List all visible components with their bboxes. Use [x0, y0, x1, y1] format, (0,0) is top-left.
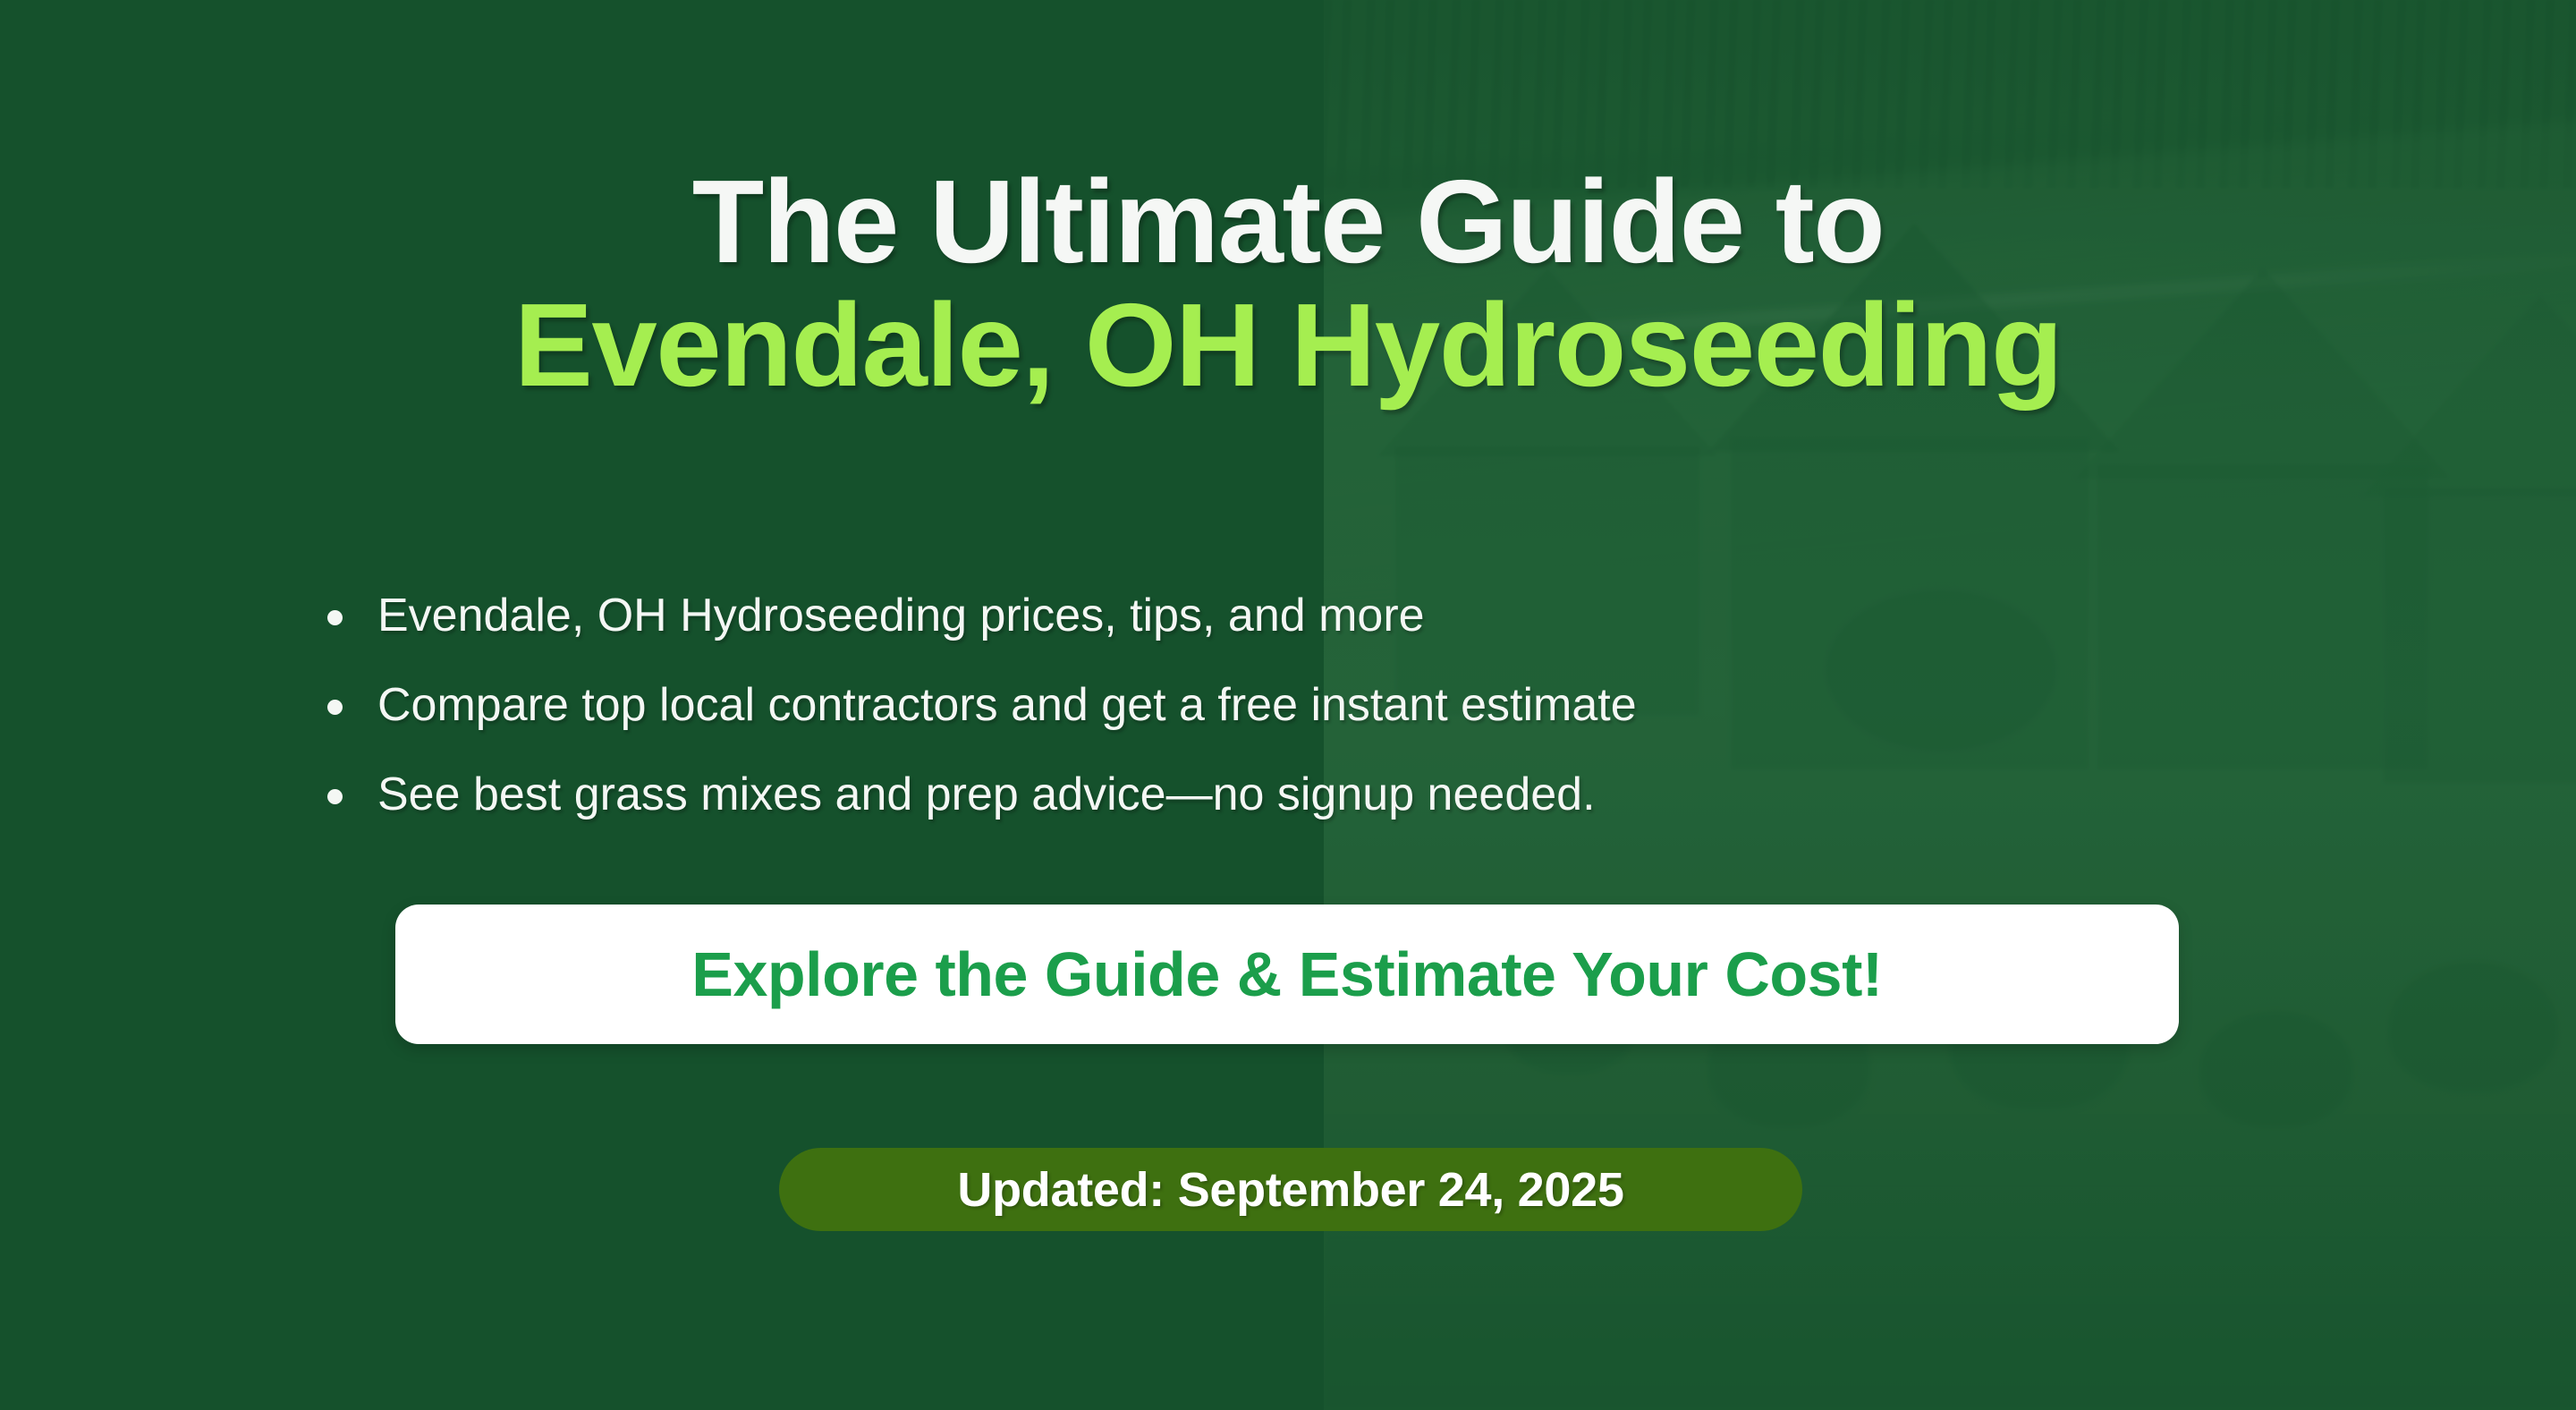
headline-line-2: Evendale, OH Hydroseeding: [0, 286, 2576, 404]
updated-date-badge: Updated: September 24, 2025: [779, 1148, 1802, 1231]
bullet-dot-icon: [327, 789, 343, 804]
list-item-label: See best grass mixes and prep advice—no …: [377, 769, 1596, 820]
bullet-dot-icon: [327, 700, 343, 715]
headline-line-1: The Ultimate Guide to: [0, 163, 2576, 281]
feature-bullet-list: Evendale, OH Hydroseeding prices, tips, …: [322, 590, 1637, 820]
list-item: Evendale, OH Hydroseeding prices, tips, …: [322, 590, 1637, 641]
hero-banner: The Ultimate Guide to Evendale, OH Hydro…: [0, 0, 2576, 1410]
banner-content: The Ultimate Guide to Evendale, OH Hydro…: [0, 0, 2576, 1410]
updated-date-label: Updated: September 24, 2025: [957, 1162, 1623, 1218]
list-item: See best grass mixes and prep advice—no …: [322, 769, 1637, 820]
list-item-label: Evendale, OH Hydroseeding prices, tips, …: [377, 590, 1425, 641]
list-item: Compare top local contractors and get a …: [322, 680, 1637, 730]
explore-guide-cta-button[interactable]: Explore the Guide & Estimate Your Cost!: [395, 905, 2179, 1044]
list-item-label: Compare top local contractors and get a …: [377, 679, 1637, 731]
bullet-dot-icon: [327, 610, 343, 625]
